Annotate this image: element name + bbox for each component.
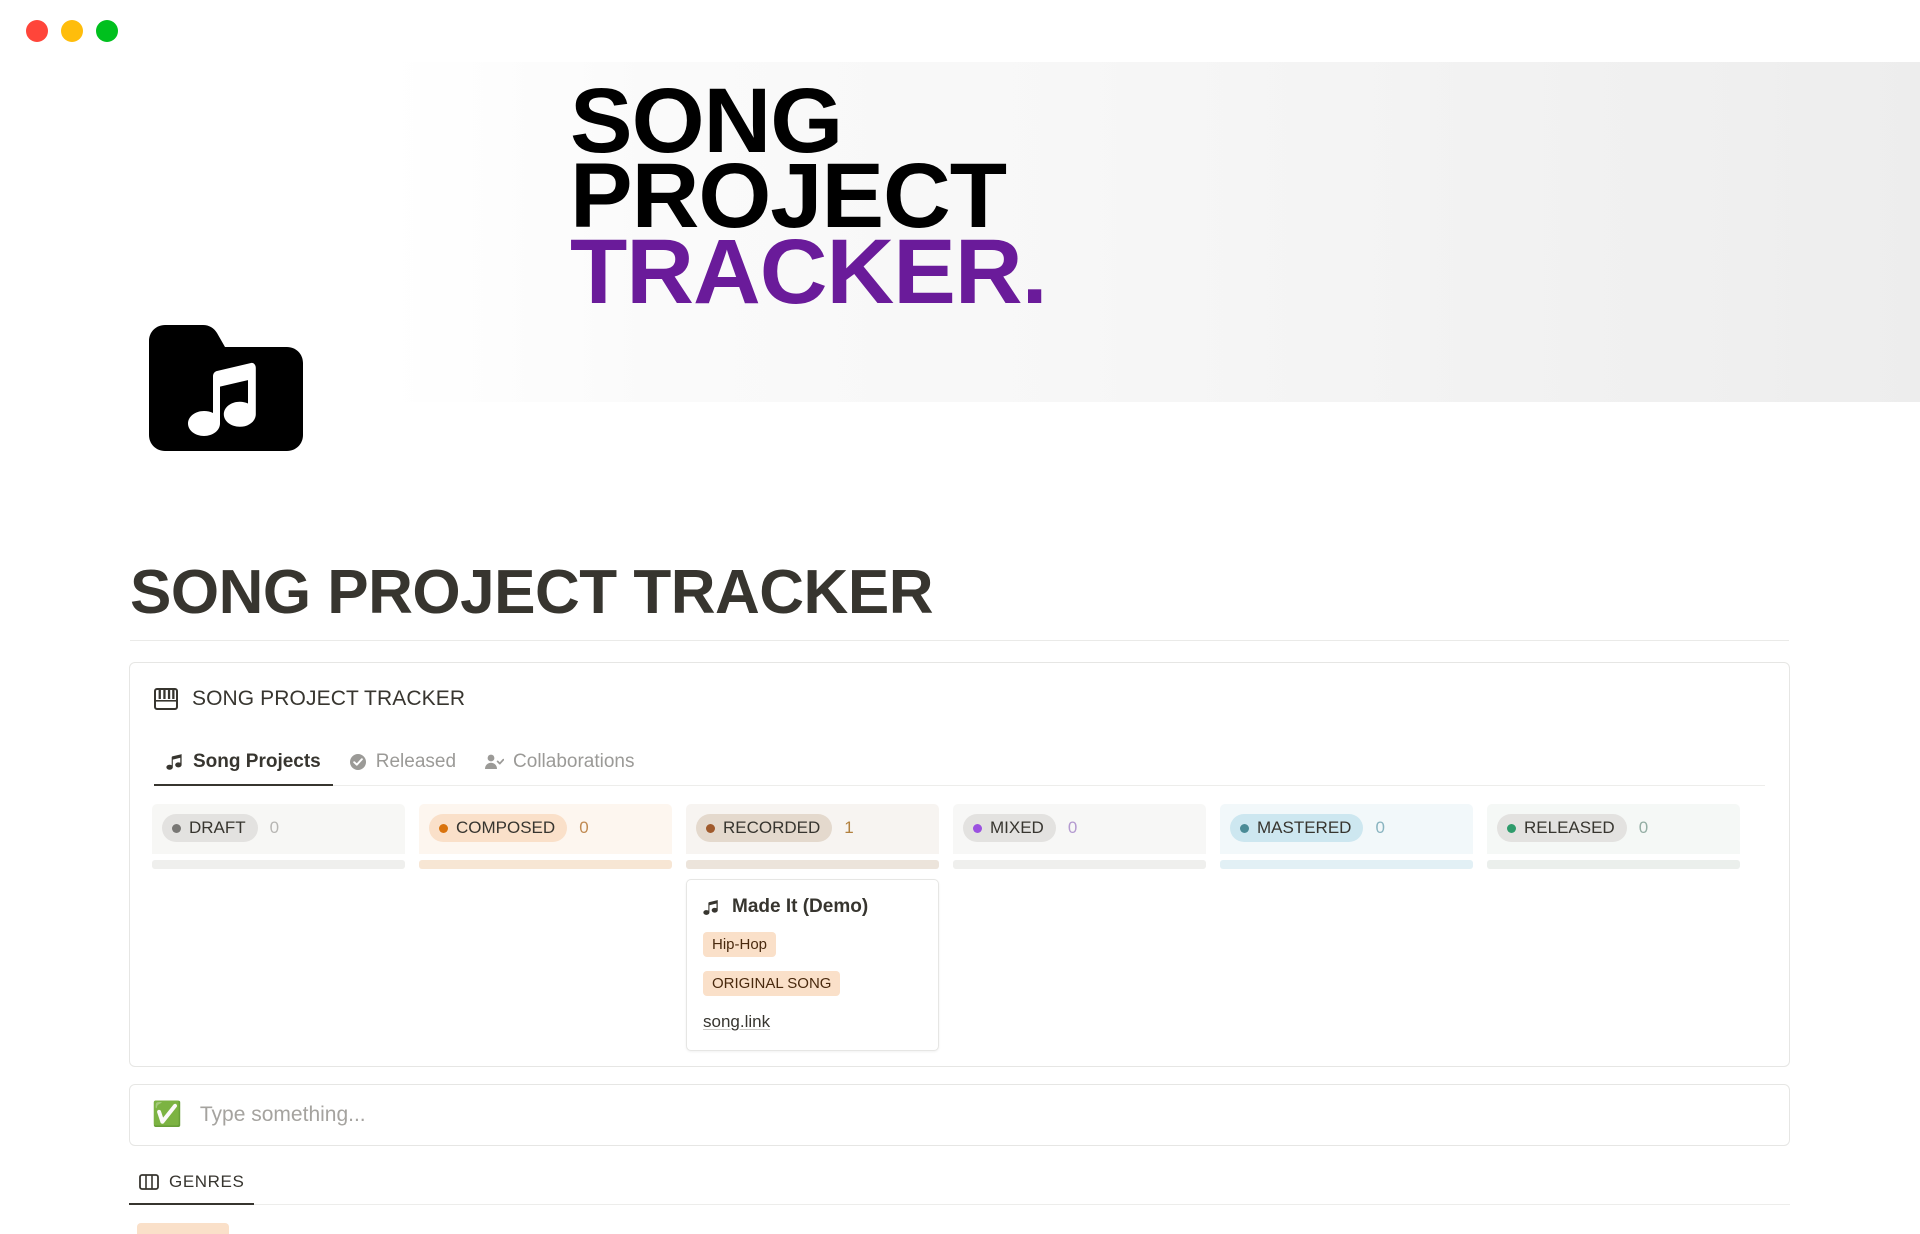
tab-released-label: Released [376,751,456,773]
card-title: Made It (Demo) [732,896,868,918]
status-dot-icon [439,824,448,833]
tab-song-projects[interactable]: Song Projects [154,745,333,785]
check-circle-icon [349,753,367,771]
column-placeholder-bar [419,860,672,869]
board-column-mastered: MASTERED 0 [1220,804,1473,1051]
status-dot-icon [172,824,181,833]
status-badge: DRAFT [162,814,258,842]
board-column-recorded: RECORDED 1 Made It (Demo) [686,804,939,1051]
column-cards: Made It (Demo) Hip-Hop ORIGINAL SONG son… [686,869,939,1051]
board-column-draft: DRAFT 0 [152,804,405,1051]
minimize-window-button[interactable] [61,20,83,42]
column-placeholder-bar [152,860,405,869]
tab-released[interactable]: Released [337,745,468,785]
tag-label: Hip-Hop [703,932,776,957]
column-placeholder-bar [953,860,1206,869]
column-label: MIXED [990,818,1044,838]
column-placeholder-bar [1487,860,1740,869]
status-badge: RELEASED [1497,814,1627,842]
database-view-tabs: Song Projects Released [154,725,1765,786]
column-cards [1487,869,1740,879]
person-check-icon [484,753,504,771]
column-count: 0 [1068,818,1077,838]
board-card[interactable]: Made It (Demo) Hip-Hop ORIGINAL SONG son… [686,879,939,1051]
column-placeholder-bar [686,860,939,869]
tab-collaborations[interactable]: Collaborations [472,745,646,785]
column-count: 0 [1375,818,1384,838]
column-cards [419,869,672,879]
column-cards [1220,869,1473,879]
database-block: SONG PROJECT TRACKER Song Projects [129,662,1790,1067]
column-placeholder-bar [1220,860,1473,869]
column-header[interactable]: RELEASED 0 [1487,804,1740,854]
kanban-board: DRAFT 0 COMPOSED 0 [130,786,1789,1051]
genres-tab-row: GENRES [129,1168,1790,1205]
tab-genres-label: GENRES [169,1172,244,1192]
database-header: SONG PROJECT TRACKER [130,663,1789,711]
composer-placeholder[interactable]: Type something... [200,1103,366,1127]
window-title-bar [0,0,1920,62]
status-badge: MASTERED [1230,814,1363,842]
board-column-released: RELEASED 0 [1487,804,1740,1051]
tab-collaborations-label: Collaborations [513,751,634,773]
board-columns-icon [139,1174,159,1190]
page-title[interactable]: SONG PROJECT TRACKER [130,557,933,628]
column-count: 0 [579,818,588,838]
card-tag-genre: Hip-Hop [703,918,922,957]
check-mark-button-icon: ✅ [152,1103,182,1127]
status-badge: RECORDED [696,814,832,842]
board-column-composed: COMPOSED 0 [419,804,672,1051]
piano-icon [154,688,178,710]
column-count: 1 [844,818,853,838]
music-note-icon [166,753,184,771]
column-label: DRAFT [189,818,246,838]
genre-tag-chip[interactable] [137,1223,229,1234]
status-dot-icon [1240,824,1249,833]
maximize-window-button[interactable] [96,20,118,42]
column-header[interactable]: MIXED 0 [953,804,1206,854]
card-tag-type: ORIGINAL SONG [703,957,922,996]
column-header[interactable]: DRAFT 0 [152,804,405,854]
column-cards [152,869,405,879]
column-count: 0 [1639,818,1648,838]
card-link[interactable]: song.link [703,1012,922,1032]
column-header[interactable]: MASTERED 0 [1220,804,1473,854]
music-note-icon [703,899,720,916]
status-dot-icon [973,824,982,833]
card-title-row: Made It (Demo) [703,896,922,918]
database-title[interactable]: SONG PROJECT TRACKER [192,687,465,711]
genres-section: GENRES [129,1168,1790,1234]
column-label: MASTERED [1257,818,1351,838]
column-cards [953,869,1206,879]
status-dot-icon [1507,824,1516,833]
column-count: 0 [270,818,279,838]
board-column-mixed: MIXED 0 [953,804,1206,1051]
column-label: RECORDED [723,818,820,838]
tab-genres[interactable]: GENRES [129,1168,254,1204]
column-header[interactable]: RECORDED 1 [686,804,939,854]
composer-input-row[interactable]: ✅ Type something... [129,1084,1790,1146]
close-window-button[interactable] [26,20,48,42]
status-badge: COMPOSED [429,814,567,842]
status-badge: MIXED [963,814,1056,842]
title-divider [130,640,1789,641]
page-body: SONG PROJECT TRACKER SONG PROJECT TRACKE… [0,62,1920,1200]
music-folder-icon[interactable] [143,307,309,473]
column-header[interactable]: COMPOSED 0 [419,804,672,854]
column-label: RELEASED [1524,818,1615,838]
status-dot-icon [706,824,715,833]
tab-song-projects-label: Song Projects [193,751,321,773]
tag-label: ORIGINAL SONG [703,971,840,996]
column-label: COMPOSED [456,818,555,838]
